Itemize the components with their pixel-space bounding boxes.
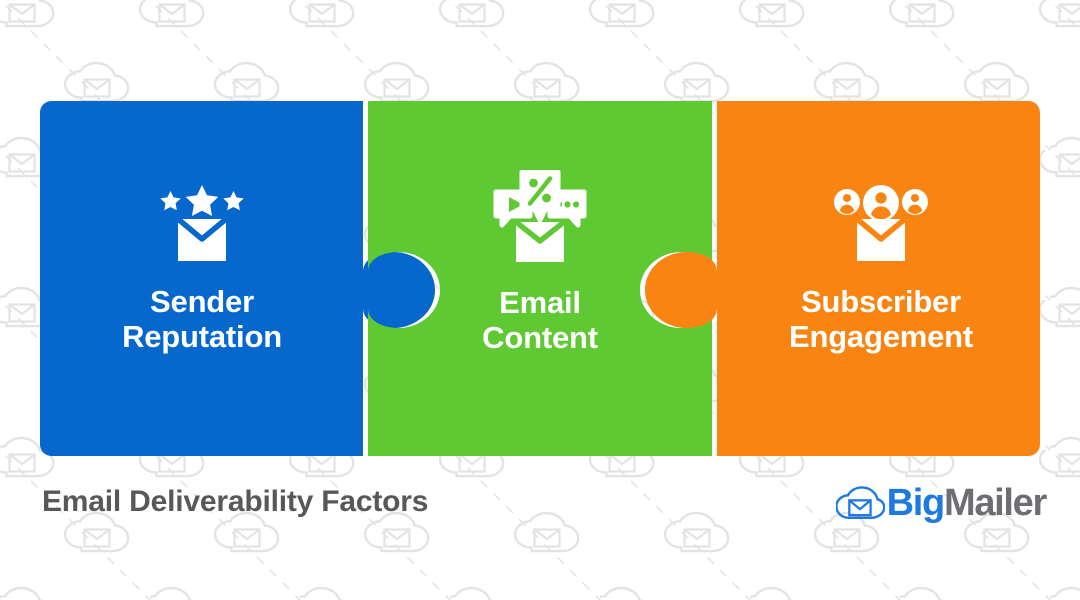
brand-name-big: Big [887, 482, 944, 524]
star-small-left-icon [160, 191, 180, 210]
bigmailer-logo[interactable]: BigMailer [836, 475, 1046, 531]
speech-bubbles-envelope-icon [492, 170, 588, 264]
footer: Email Deliverability Factors BigMailer [0, 478, 1080, 540]
brand-name-mailer: Mailer [944, 482, 1046, 524]
envelope-icon [857, 219, 905, 261]
stars-envelope-icon [154, 185, 250, 263]
envelope-icon [178, 219, 226, 261]
bigmailer-wordmark: BigMailer [887, 484, 1046, 522]
infographic-canvas: Sender Reputation [0, 0, 1080, 600]
person-small-left-icon [834, 189, 860, 215]
page-title: Email Deliverability Factors [42, 478, 428, 526]
envelope-icon [516, 222, 564, 262]
people-envelope-icon [833, 185, 929, 263]
puzzle-piece-label-sender-reputation: Sender Reputation [122, 284, 282, 354]
puzzle-piece-content-subscriber-engagement: Subscriber Engagement [726, 185, 1036, 354]
puzzle-piece-content-email-content: Email Content [390, 170, 690, 355]
puzzle-piece-content-sender-reputation: Sender Reputation [44, 185, 360, 354]
star-small-right-icon [223, 191, 243, 210]
person-large-center-icon [863, 185, 899, 221]
puzzle-piece-label-email-content: Email Content [482, 285, 598, 355]
person-small-right-icon [902, 189, 928, 215]
star-large-center-icon [186, 185, 219, 216]
cloud-envelope-logo-icon [836, 479, 885, 527]
puzzle-piece-label-subscriber-engagement: Subscriber Engagement [789, 284, 973, 354]
